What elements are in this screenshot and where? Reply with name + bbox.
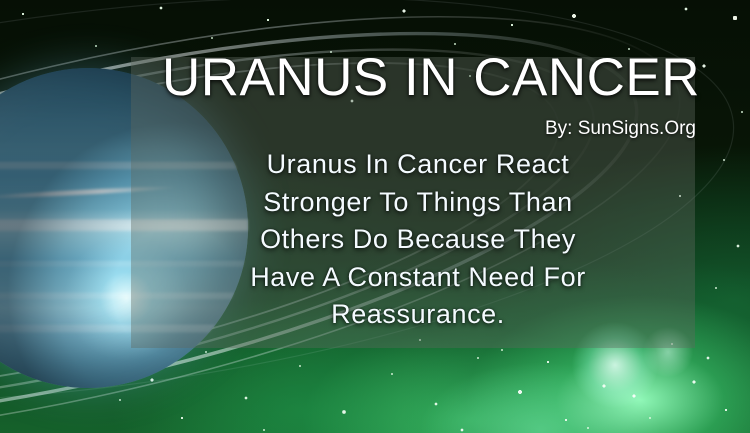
- description-line: Uranus In Cancer React: [140, 146, 696, 184]
- description-text: Uranus In Cancer React Stronger To Thing…: [140, 146, 696, 334]
- byline-credit: By: SunSigns.Org: [0, 117, 696, 141]
- description-line: Others Do Because They: [140, 221, 696, 259]
- description-line: Have A Constant Need For: [140, 259, 696, 297]
- page-title: URANUS IN CANCER: [0, 49, 700, 107]
- poster-canvas: URANUS IN CANCER By: SunSigns.Org Uranus…: [0, 0, 750, 433]
- description-line: Stronger To Things Than: [140, 184, 696, 222]
- description-line: Reassurance.: [140, 296, 696, 334]
